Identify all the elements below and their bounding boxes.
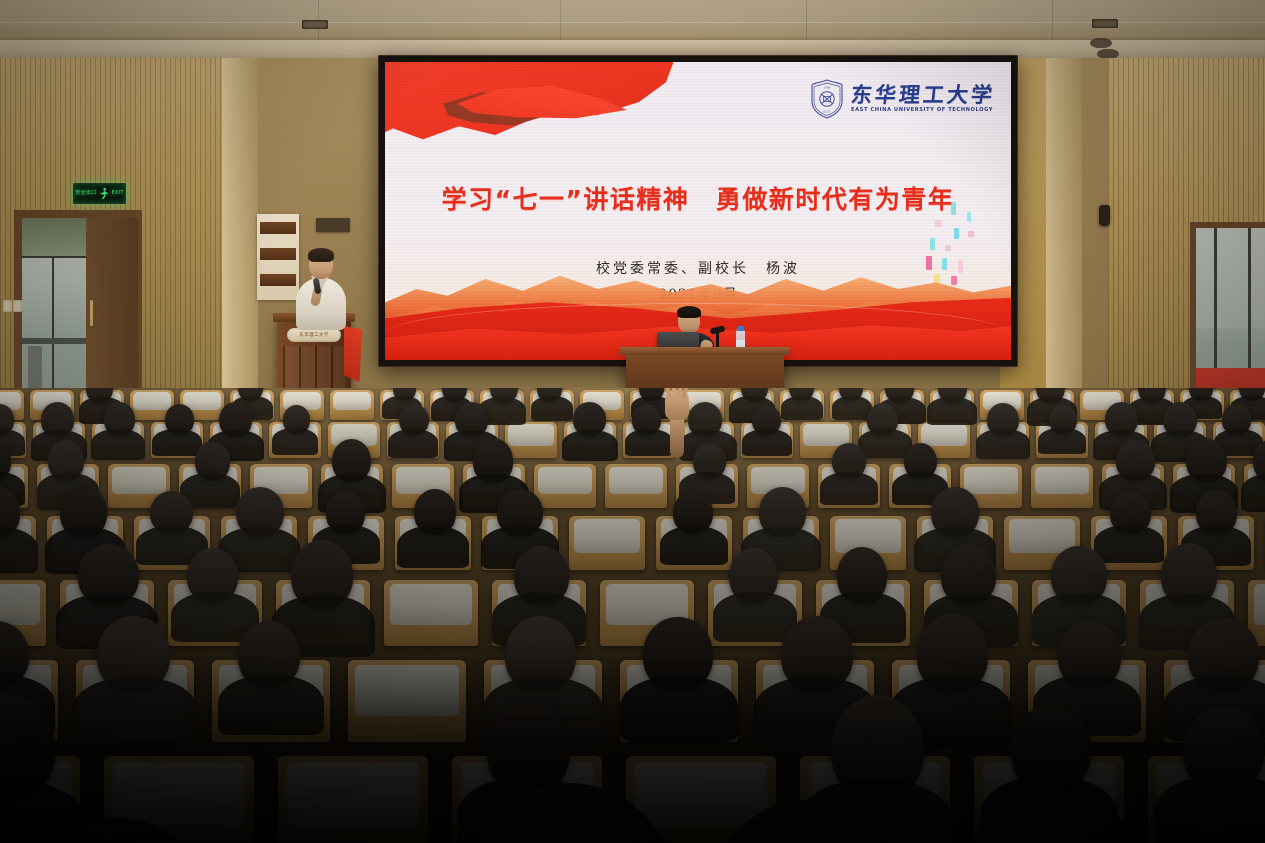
audience-person-shoulders (858, 429, 911, 458)
university-name-cn: 东华理工大学 (850, 84, 996, 105)
svg-text:ECUT: ECUT (823, 111, 831, 114)
audience-seat (605, 464, 667, 508)
audience-seat (330, 390, 374, 420)
running-man-icon (98, 187, 109, 200)
audience-person-shoulders (218, 675, 324, 735)
audience-person-shoulders (272, 428, 319, 454)
exit-sign-cn-label: 安全出口 (75, 191, 96, 196)
raised-hand (662, 388, 692, 456)
wall-pillar-left (222, 58, 258, 430)
audience-person-shoulders (976, 429, 1030, 459)
audience-person-shoulders (781, 396, 824, 420)
audience-person-shoulders (713, 592, 796, 642)
audience-seat (569, 516, 645, 570)
university-logo: 1956 ECUT 东华理工大学 EAST CHINA UNIVERSITY O… (810, 79, 995, 119)
decor-dot (968, 231, 974, 237)
audience-seat (278, 756, 428, 843)
exit-sign: 安全出口 EXIT (73, 183, 126, 204)
audience-seat (534, 464, 596, 508)
audience-person-shoulders (152, 429, 201, 456)
exit-sign-en-label: EXIT (111, 191, 123, 196)
audience-person-shoulders (531, 396, 574, 421)
decor-dot (935, 220, 942, 227)
water-bottle-cap (737, 326, 744, 331)
wall-speaker-icon (1099, 205, 1110, 226)
audience-seat (1031, 464, 1093, 508)
podium-nameplate: 东华理工大学 (287, 328, 341, 342)
svg-text:1956: 1956 (824, 85, 831, 89)
university-crest-icon: 1956 ECUT (810, 79, 844, 119)
slide-title: 学习“七一”讲话精神 勇做新时代有为青年 (385, 180, 1011, 216)
audience-seat (384, 580, 478, 646)
university-name-en: EAST CHINA UNIVERSITY OF TECHNOLOGY (851, 108, 995, 113)
ceiling-vent-icon (1092, 19, 1118, 28)
audience-person-shoulders (742, 429, 792, 456)
lecture-hall-photo: 安全出口 EXIT (0, 0, 1265, 843)
podium-red-drape (344, 326, 362, 382)
audience-person-shoulders (1038, 428, 1086, 454)
wall-pillar-right (1040, 58, 1082, 428)
left-door-handle-icon[interactable] (90, 300, 93, 326)
ceiling-panels (0, 0, 1265, 44)
wall-socket-icon (13, 300, 22, 312)
standing-speaker (290, 246, 350, 326)
audience-person-shoulders (660, 526, 729, 565)
audience-area (0, 388, 1265, 843)
ceiling-speaker-icon (1090, 38, 1112, 48)
decor-dot (954, 228, 959, 239)
audience-seat (348, 660, 466, 742)
audience-person-shoulders (620, 676, 738, 742)
audience-seat (505, 422, 557, 458)
audience-person-shoulders (73, 677, 197, 745)
audience-person-shoulders (388, 429, 439, 458)
wall-socket-icon (3, 300, 12, 312)
audience-person-shoulders (927, 397, 976, 425)
audience-person-shoulders (1094, 525, 1164, 563)
wall-plaque (316, 218, 350, 232)
audience-person-shoulders (91, 429, 144, 460)
audience-person-shoulders (562, 430, 618, 461)
audience-person-shoulders (397, 526, 468, 568)
ceiling-vent-icon (302, 20, 328, 29)
decor-dot (967, 212, 971, 222)
audience-person-shoulders (820, 472, 878, 505)
decor-dot (951, 202, 956, 215)
